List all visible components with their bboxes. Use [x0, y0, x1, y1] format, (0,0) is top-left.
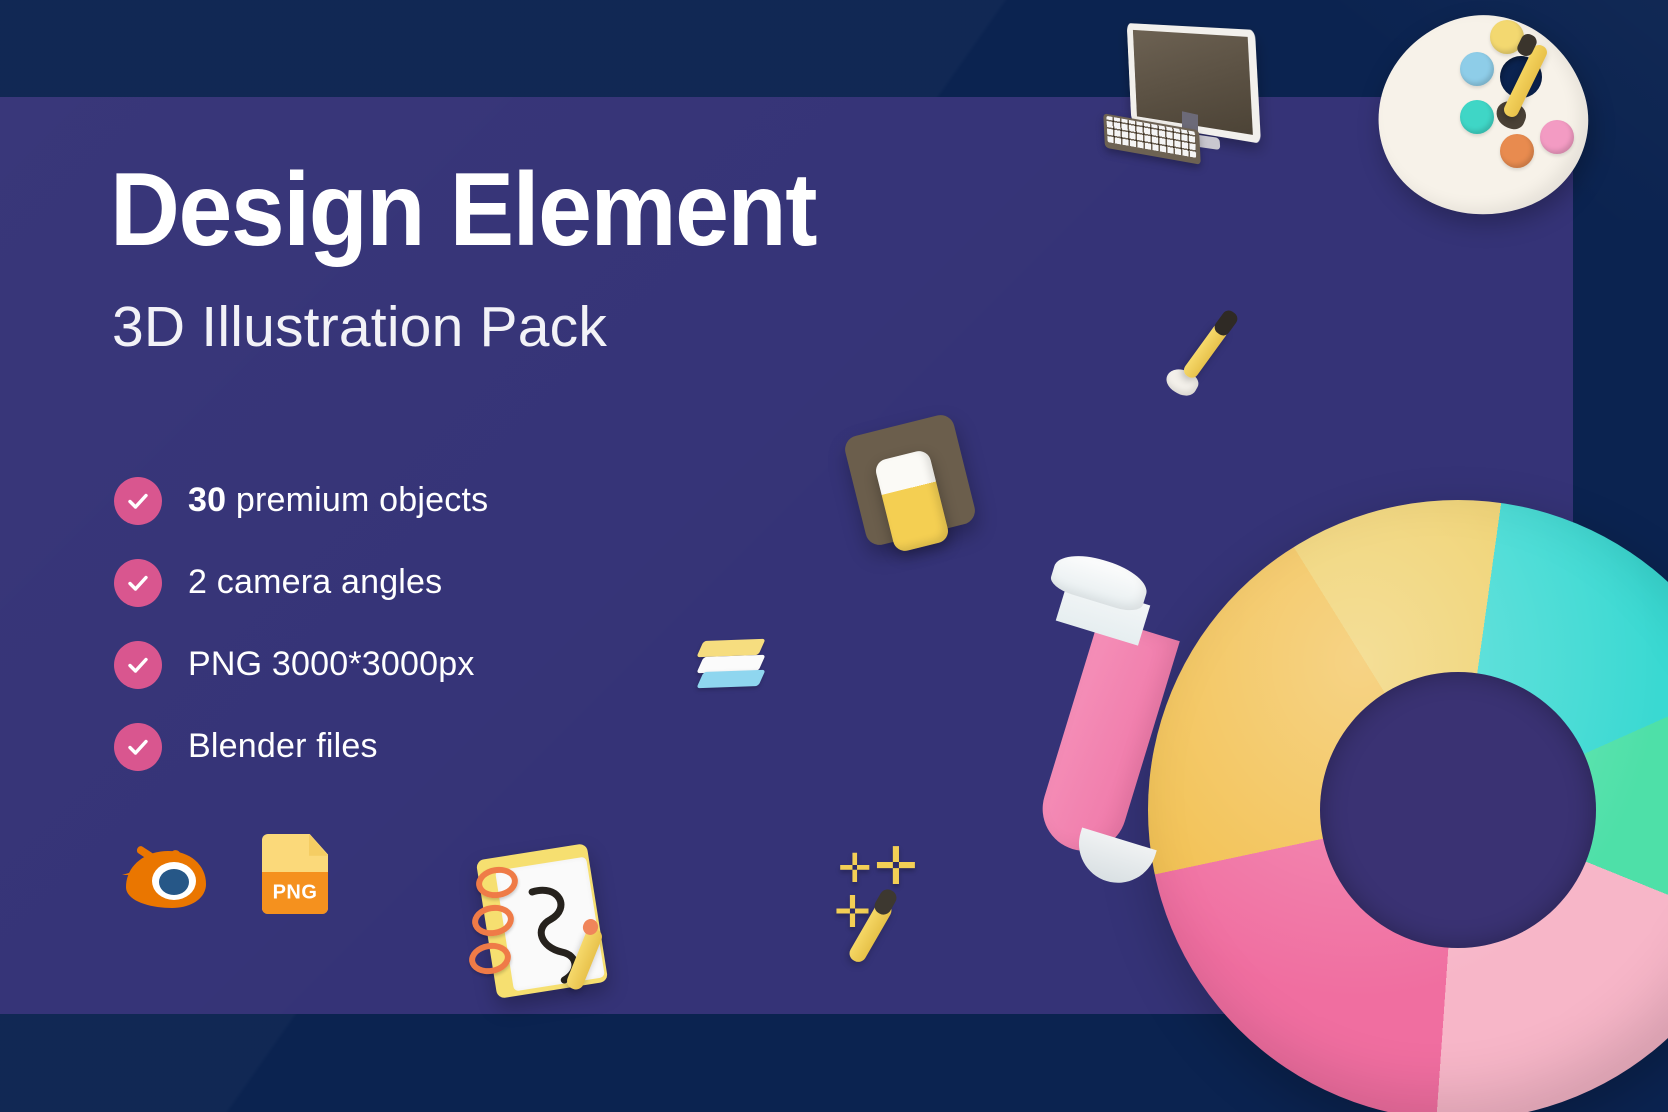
check-icon	[114, 723, 162, 771]
check-icon	[114, 477, 162, 525]
page-subtitle: 3D Illustration Pack	[112, 296, 1070, 359]
paintbrush-icon	[1160, 312, 1270, 422]
feature-label-rest: premium objects	[226, 481, 488, 519]
png-file-label: PNG	[262, 881, 328, 904]
poster-canvas: ✛ ✛ ✛ Design Element 3D Illustration Pac…	[0, 0, 1668, 1112]
feature-list: 30 premium objects 2 camera angles PNG 3…	[114, 477, 1070, 771]
test-tube-base	[1069, 828, 1156, 893]
page-title: Design Element	[110, 158, 1003, 262]
list-item: Blender files	[114, 723, 1070, 771]
swim-ring-icon	[1148, 500, 1668, 1112]
feature-count: 30	[188, 481, 226, 519]
list-item: 30 premium objects	[114, 477, 1070, 525]
hero-content: Design Element 3D Illustration Pack 30 p…	[110, 158, 1070, 914]
check-icon	[114, 559, 162, 607]
feature-label: 2 camera angles	[188, 563, 442, 602]
paint-palette-icon	[1378, 16, 1586, 216]
palette-dot-pink	[1540, 120, 1574, 154]
png-file-band: PNG	[262, 872, 328, 914]
format-badge-row: PNG	[116, 829, 1070, 914]
swim-ring-hole	[1320, 672, 1596, 948]
check-icon	[114, 641, 162, 689]
feature-label: PNG 3000*3000px	[188, 645, 475, 684]
palette-dot-teal	[1460, 100, 1494, 134]
list-item: PNG 3000*3000px	[114, 641, 1070, 689]
feature-label: Blender files	[188, 727, 378, 766]
blender-logo-icon	[116, 829, 212, 914]
curved-monitor-icon	[1098, 18, 1268, 168]
png-file-icon: PNG	[262, 834, 328, 914]
palette-dot-orange	[1500, 134, 1534, 168]
feature-label: 30 premium objects	[188, 481, 488, 520]
palette-dot-blue	[1460, 52, 1494, 86]
list-item: 2 camera angles	[114, 559, 1070, 607]
